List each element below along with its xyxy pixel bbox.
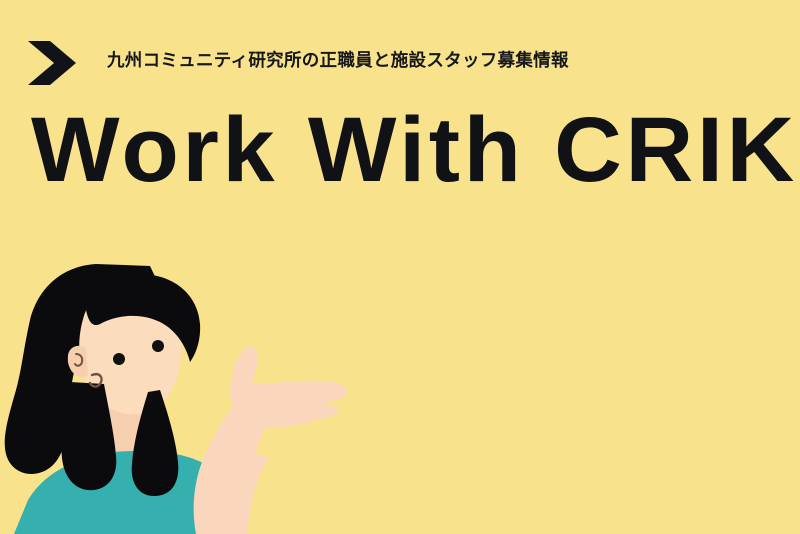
eye-left	[113, 353, 125, 365]
banner-subtitle: 九州コミュニティ研究所の正職員と施設スタッフ募集情報	[107, 50, 569, 72]
woman-presenting-illustration	[0, 262, 420, 534]
recruitment-banner: 九州コミュニティ研究所の正職員と施設スタッフ募集情報 Work With CRI…	[0, 0, 800, 534]
chevron-right-icon	[28, 41, 76, 85]
banner-header: 九州コミュニティ研究所の正職員と施設スタッフ募集情報	[0, 0, 800, 100]
hand	[230, 346, 347, 428]
page-title: Work With CRIK	[31, 103, 800, 197]
eye-right	[152, 340, 164, 352]
